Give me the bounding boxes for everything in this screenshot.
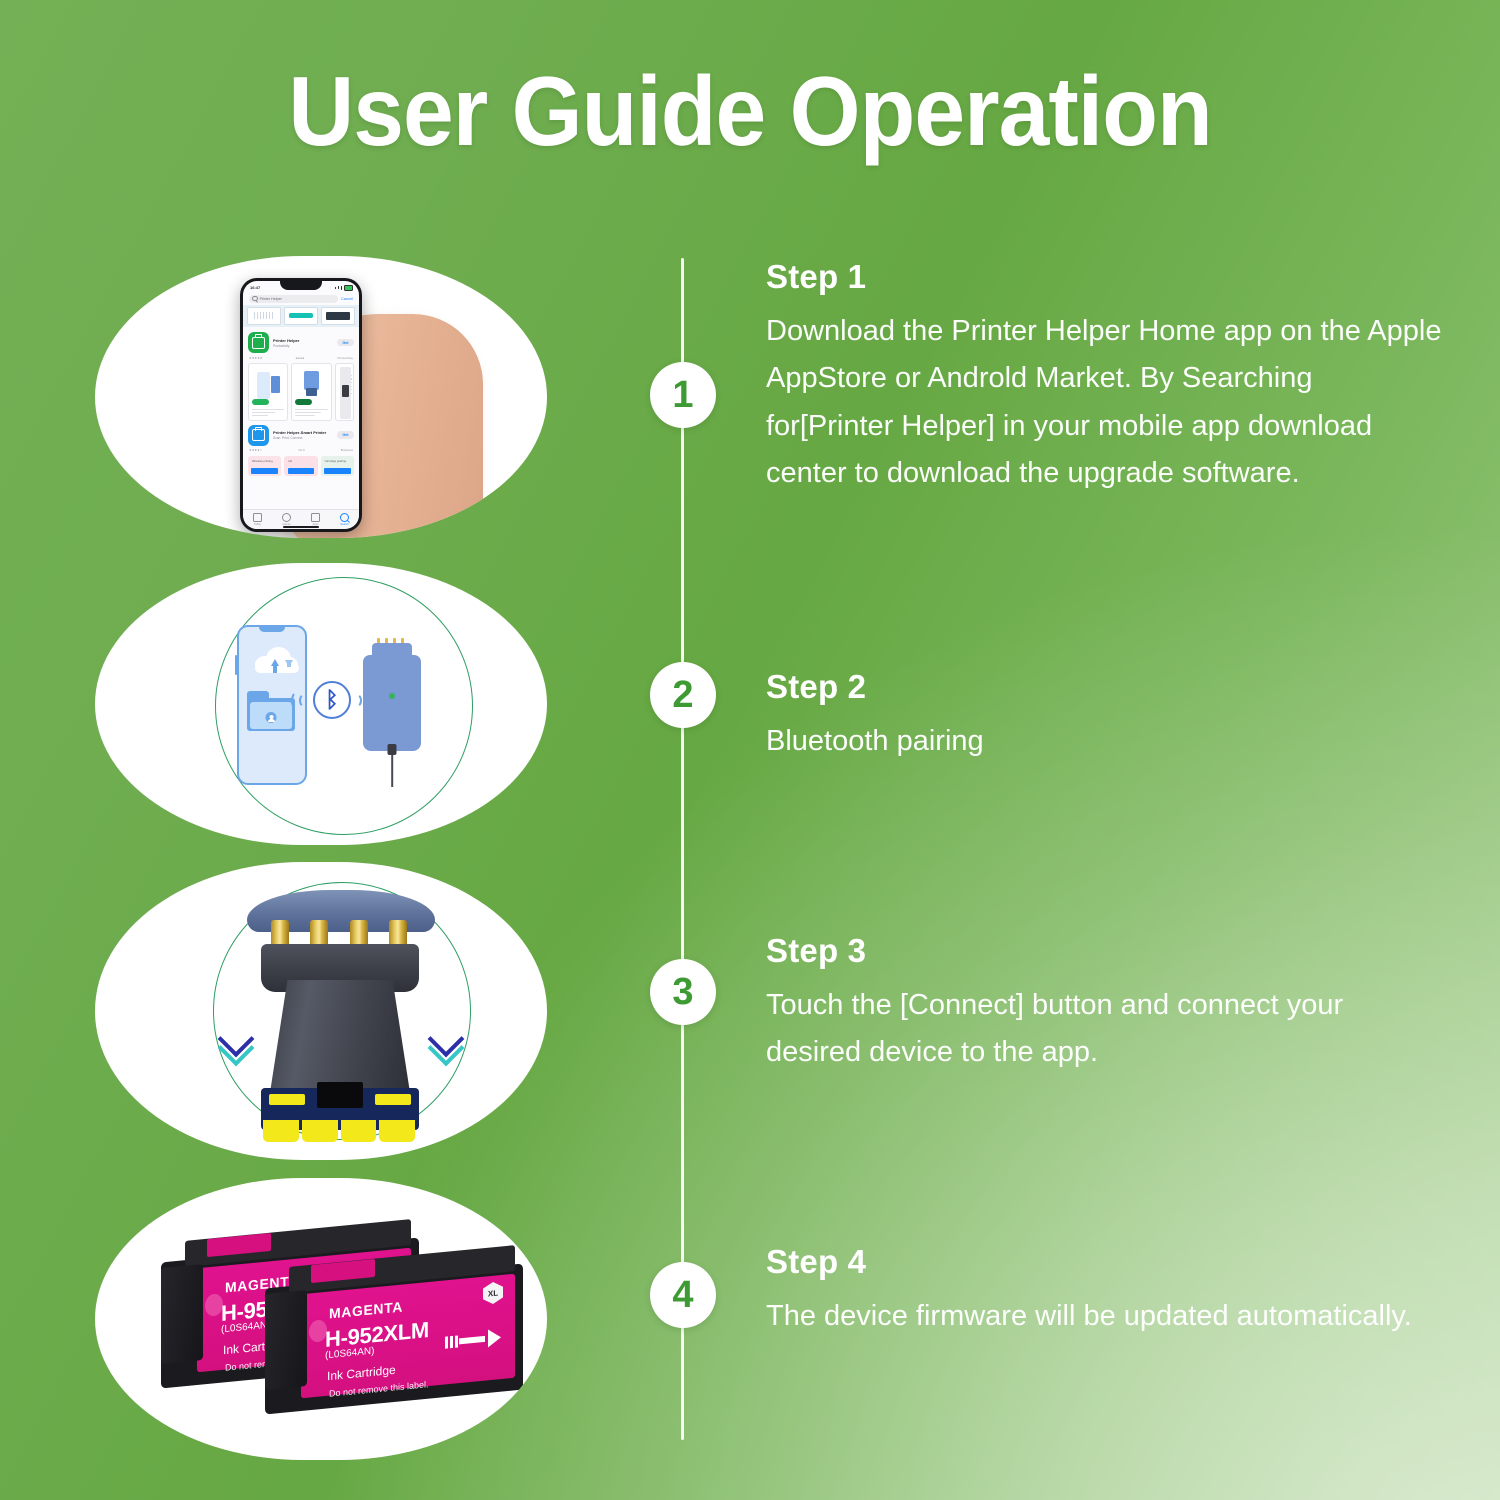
step-text-4: Step 4 The device firmware will be updat… [766, 1243, 1446, 1340]
illustration-ink-cartridges: MAGENTA H-952XLM (L0S64AN) Ink Cartridge… [95, 1178, 547, 1460]
signal-wave-icon [299, 693, 312, 708]
phone-screen: 16:47 Printer Helper Can [243, 281, 359, 529]
chip-programmer-device [363, 641, 421, 751]
get-button[interactable]: Get [337, 431, 354, 439]
tab-label: Search [340, 523, 348, 526]
banner-thumb-left [247, 307, 281, 325]
promo-title: Cartridge guiding [325, 459, 346, 463]
apps-icon [311, 513, 320, 522]
step-text-1: Step 1 Download the Printer Helper Home … [766, 258, 1446, 497]
printer-app-icon-blue [248, 425, 269, 446]
app-subtitle: Scan. Print. Connect. [273, 436, 333, 440]
step-badge-3: 3 [650, 959, 716, 1025]
app-meta-right: Business [341, 448, 353, 452]
app-name: Printer Helper [273, 338, 333, 343]
cancel-button[interactable]: Cancel [341, 297, 353, 301]
app-subtitle: Productivity [273, 344, 333, 348]
printer-app-icon-green [248, 332, 269, 353]
promo-card[interactable]: Cartridge guiding [321, 456, 354, 476]
step-body: Bluetooth pairing [766, 718, 1446, 765]
phone-notch [280, 281, 322, 290]
download-arrow-icon [285, 660, 293, 667]
app-meta-center: No.6 [298, 448, 304, 452]
battery-icon [344, 285, 353, 291]
promo-title: Wireless printing [252, 459, 273, 463]
app-screenshot-3[interactable] [335, 363, 354, 421]
promo-card-strip: Wireless printing Ink Cartridge guiding [248, 456, 354, 476]
app-result-list: Printer Helper Productivity Get ★★★★★ ●●… [243, 328, 359, 476]
chevron-down-icon [223, 1026, 253, 1056]
get-button[interactable]: Get [337, 339, 354, 347]
app-meta-center: ●●●●● [295, 356, 304, 360]
promo-card[interactable]: Wireless printing [248, 456, 281, 476]
tab-search[interactable]: Search [330, 510, 359, 529]
list-item[interactable]: Printer Helper Productivity Get [248, 332, 354, 353]
illustration-hand-phone: 16:47 Printer Helper Can [95, 256, 547, 538]
illustration-bluetooth-pairing: ᛒ [95, 563, 547, 845]
tab-today[interactable]: Today [243, 510, 272, 529]
search-icon [340, 513, 349, 522]
step-badge-2: 2 [650, 662, 716, 728]
app-meta-right: Productivity [337, 356, 353, 360]
app-rating: ★★★★★ [249, 356, 262, 360]
step-body: The device firmware will be updated auto… [766, 1293, 1446, 1340]
promo-title: Ink [288, 459, 292, 463]
status-time: 16:47 [250, 285, 260, 290]
bluetooth-glyph: ᛒ [325, 689, 338, 711]
tab-label: Today [254, 523, 261, 526]
step-badge-1: 1 [650, 362, 716, 428]
step-heading: Step 4 [766, 1243, 1446, 1281]
step-image-card-2: ᛒ [95, 563, 547, 845]
search-input[interactable]: Printer Helper [249, 295, 338, 303]
chip-contact-pads [263, 1120, 415, 1142]
step-heading: Step 2 [766, 668, 1446, 706]
banner-thumb-right [321, 307, 355, 325]
search-value: Printer Helper [260, 297, 282, 301]
step-text-2: Step 2 Bluetooth pairing [766, 668, 1446, 765]
step-image-card-1: 16:47 Printer Helper Can [95, 256, 547, 538]
list-item[interactable]: Printer Helper-Smart Printer Scan. Print… [248, 425, 354, 446]
search-icon [252, 296, 258, 302]
status-icons [335, 285, 353, 291]
poster-root: User Guide Operation 16:47 [0, 0, 1500, 1500]
ink-cartridge-front: XL MAGENTA H-952XLM (L0S64AN) Ink Cartri… [265, 1276, 523, 1402]
page-title: User Guide Operation [53, 62, 1448, 160]
promo-card[interactable]: Ink [284, 456, 317, 476]
step-heading: Step 1 [766, 258, 1446, 296]
app-meta-row: ★★★★★ ●●●●● Productivity [249, 356, 353, 360]
app-screenshot-1[interactable] [248, 363, 288, 421]
step-badge-4: 4 [650, 1262, 716, 1328]
app-meta-row: ★★★★☆ No.6 Business [249, 448, 353, 452]
chevron-down-icon [433, 1026, 463, 1056]
step-image-card-4: MAGENTA H-952XLM (L0S64AN) Ink Cartridge… [95, 1178, 547, 1460]
folder-icon [247, 689, 295, 731]
today-icon [253, 513, 262, 522]
tap-hand-cursor-icon [507, 273, 541, 311]
status-led [389, 693, 395, 699]
home-indicator [283, 526, 319, 528]
search-row: Printer Helper Cancel [243, 293, 359, 304]
illustration-chip-resetter [95, 862, 547, 1160]
app-rating: ★★★★☆ [249, 448, 262, 452]
banner-thumb-mid [284, 307, 318, 325]
app-screenshot-strip [248, 363, 354, 421]
bluetooth-icon: ᛒ [313, 681, 351, 719]
promo-banner [243, 305, 359, 327]
phone-device: 16:47 Printer Helper Can [240, 278, 362, 532]
step-body: Touch the [Connect] button and connect y… [766, 982, 1446, 1077]
step-heading: Step 3 [766, 932, 1446, 970]
step-body: Download the Printer Helper Home app on … [766, 308, 1446, 497]
step-image-card-3 [95, 862, 547, 1160]
upload-arrow-icon [271, 659, 279, 666]
games-icon [282, 513, 291, 522]
signal-wave-icon [349, 693, 362, 708]
step-text-3: Step 3 Touch the [Connect] button and co… [766, 932, 1446, 1077]
app-name: Printer Helper-Smart Printer [273, 430, 333, 435]
app-screenshot-2[interactable] [291, 363, 331, 421]
